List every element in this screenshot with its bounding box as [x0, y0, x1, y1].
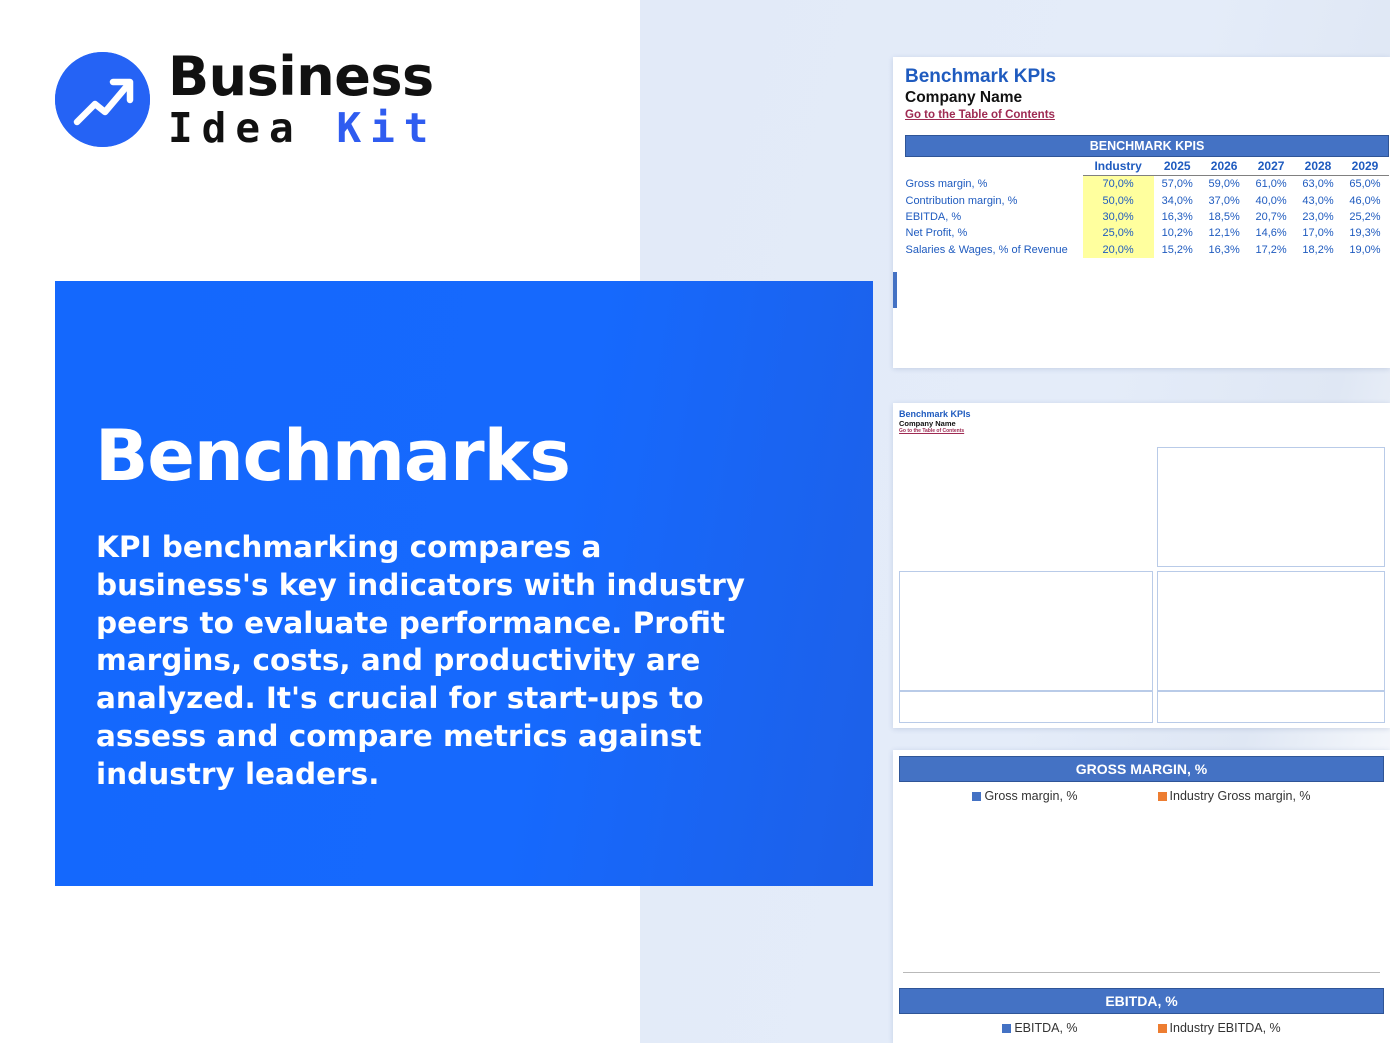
year-value: 59,0% [1201, 176, 1248, 193]
row-label: Salaries & Wages, % of Revenue [906, 242, 1083, 258]
column-header: Industry [1083, 157, 1154, 176]
column-header: 2028 [1295, 157, 1342, 176]
gross-margin-chart: GROSS MARGIN, % Gross margin, % Industry… [893, 750, 1390, 1043]
year-value: 23,0% [1295, 209, 1342, 225]
year-value: 17,0% [1295, 225, 1342, 241]
year-value: 18,5% [1201, 209, 1248, 225]
mini-chart-gross-margin[interactable] [1157, 447, 1385, 567]
chart-title-gross-margin: GROSS MARGIN, % [899, 756, 1384, 782]
chart-legend-ebitda: EBITDA, % Industry EBITDA, % [893, 1021, 1390, 1035]
column-header: 2027 [1248, 157, 1295, 176]
sheet-title: Benchmark KPIs [905, 66, 1390, 88]
year-value: 57,0% [1154, 176, 1201, 193]
table-row: Contribution margin, %50,0%34,0%37,0%40,… [906, 192, 1389, 208]
chart-plot-area [903, 817, 1381, 972]
legend-label-ebitda-company: EBITDA, % [1014, 1021, 1077, 1035]
brand-logo: Business Idea Kit [55, 50, 438, 149]
year-value: 19,3% [1341, 225, 1388, 241]
screenshot-card-gross-margin-chart[interactable]: GROSS MARGIN, % Gross margin, % Industry… [893, 750, 1390, 1043]
legend-item-ebitda-company: EBITDA, % [1002, 1021, 1077, 1035]
table-row: EBITDA, %30,0%16,3%18,5%20,7%23,0%25,2% [906, 209, 1389, 225]
mini-sheet-subtitle: Company Name [899, 419, 1390, 428]
industry-value: 30,0% [1083, 209, 1154, 225]
screenshot-card-benchmark-table[interactable]: Benchmark KPIs Company Name Go to the Ta… [893, 57, 1390, 368]
mini-chart-ebitda[interactable] [1157, 571, 1385, 691]
mini-chart-net-profit[interactable] [899, 691, 1153, 723]
chart-legend: Gross margin, % Industry Gross margin, % [893, 789, 1390, 803]
table-header-row: Industry20252026202720282029 [906, 157, 1389, 176]
legend-label-ebitda-industry: Industry EBITDA, % [1170, 1021, 1281, 1035]
mini-sheet-title: Benchmark KPIs [899, 409, 1390, 419]
year-value: 65,0% [1341, 176, 1388, 193]
chart-title-ebitda: EBITDA, % [899, 988, 1384, 1014]
legend-label-company: Gross margin, % [984, 789, 1077, 803]
mini-chart-salaries-wages[interactable] [1157, 691, 1385, 723]
benchmark-kpi-table: BENCHMARK KPISIndustry202520262027202820… [905, 135, 1389, 258]
row-label: Net Profit, % [906, 225, 1083, 241]
table-row: Net Profit, %25,0%10,2%12,1%14,6%17,0%19… [906, 225, 1389, 241]
benchmark-sheet: Benchmark KPIs Company Name Go to the Ta… [899, 57, 1390, 368]
sheet-subtitle: Company Name [905, 89, 1390, 107]
row-label: Contribution margin, % [906, 192, 1083, 208]
year-value: 20,7% [1248, 209, 1295, 225]
year-value: 19,0% [1341, 242, 1388, 258]
year-value: 61,0% [1248, 176, 1295, 193]
industry-value: 20,0% [1083, 242, 1154, 258]
legend-item-company: Gross margin, % [972, 789, 1077, 803]
mini-dashboard: Benchmark KPIs Company Name Go to the Ta… [893, 403, 1390, 728]
brand-name-primary: Business [168, 50, 438, 104]
brand-kit-word: Kit [336, 104, 437, 152]
year-value: 16,3% [1154, 209, 1201, 225]
legend-swatch-blue-icon [972, 792, 981, 801]
legend-swatch-orange-ebitda-icon [1158, 1024, 1167, 1033]
table-row: Salaries & Wages, % of Revenue20,0%15,2%… [906, 242, 1389, 258]
year-value: 63,0% [1295, 176, 1342, 193]
year-value: 46,0% [1341, 192, 1388, 208]
row-label: EBITDA, % [906, 209, 1083, 225]
industry-value: 70,0% [1083, 176, 1154, 193]
table-of-contents-link[interactable]: Go to the Table of Contents [905, 109, 1390, 121]
industry-value: 25,0% [1083, 225, 1154, 241]
legend-item-industry: Industry Gross margin, % [1158, 789, 1311, 803]
year-value: 34,0% [1154, 192, 1201, 208]
column-header: 2029 [1341, 157, 1388, 176]
page-title: Benchmarks [95, 421, 570, 491]
year-value: 40,0% [1248, 192, 1295, 208]
table-banner-row: BENCHMARK KPIS [906, 136, 1389, 157]
year-value: 43,0% [1295, 192, 1342, 208]
row-label: Gross margin, % [906, 176, 1083, 193]
sheet-left-accent-bar [893, 272, 897, 308]
table-banner-cell: BENCHMARK KPIS [906, 136, 1389, 157]
chart-axis-line [903, 972, 1380, 973]
legend-swatch-blue-ebitda-icon [1002, 1024, 1011, 1033]
year-value: 17,2% [1248, 242, 1295, 258]
legend-item-ebitda-industry: Industry EBITDA, % [1158, 1021, 1281, 1035]
brand-idea-word: Idea [168, 104, 303, 152]
growth-arrow-icon [55, 52, 150, 147]
screenshot-card-dashboard[interactable]: Benchmark KPIs Company Name Go to the Ta… [893, 403, 1390, 728]
legend-swatch-orange-icon [1158, 792, 1167, 801]
legend-label-industry: Industry Gross margin, % [1170, 789, 1311, 803]
year-value: 10,2% [1154, 225, 1201, 241]
year-value: 14,6% [1248, 225, 1295, 241]
year-value: 12,1% [1201, 225, 1248, 241]
year-value: 15,2% [1154, 242, 1201, 258]
industry-value: 50,0% [1083, 192, 1154, 208]
year-value: 25,2% [1341, 209, 1388, 225]
column-header: 2025 [1154, 157, 1201, 176]
hero-description: KPI benchmarking compares a business's k… [96, 529, 766, 793]
year-value: 37,0% [1201, 192, 1248, 208]
year-value: 16,3% [1201, 242, 1248, 258]
hero-panel: Benchmarks KPI benchmarking compares a b… [55, 281, 873, 886]
column-header: 2026 [1201, 157, 1248, 176]
brand-name-secondary: Idea Kit [168, 108, 438, 149]
year-value: 18,2% [1295, 242, 1342, 258]
table-row: Gross margin, %70,0%57,0%59,0%61,0%63,0%… [906, 176, 1389, 193]
mini-table-of-contents-link[interactable]: Go to the Table of Contents [899, 428, 1390, 434]
mini-chart-contribution-margin[interactable] [899, 571, 1153, 691]
